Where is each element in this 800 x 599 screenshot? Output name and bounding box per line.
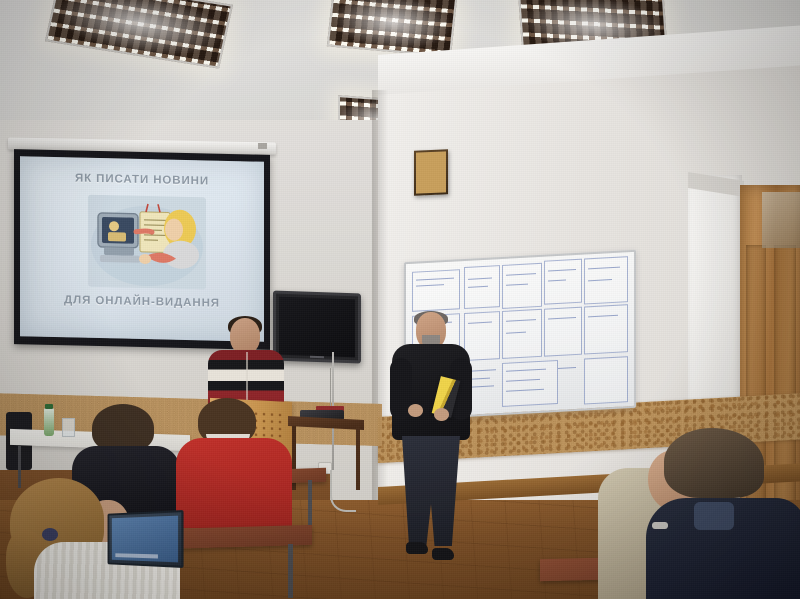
red-sweater — [176, 438, 292, 528]
water-bottle[interactable] — [44, 408, 54, 436]
antenna — [330, 368, 331, 410]
right-hand — [434, 408, 449, 421]
hand — [642, 482, 668, 522]
door-glass-panel — [762, 192, 800, 248]
dark-jeans — [402, 436, 460, 546]
shoe — [432, 548, 454, 560]
orthodox-icon — [414, 149, 448, 195]
wall-corner-shadow — [372, 90, 388, 540]
projection-screen-end-cap — [258, 143, 267, 149]
desk-leg — [288, 544, 293, 598]
hair — [92, 404, 154, 452]
side-table-leg — [356, 426, 360, 490]
laptop[interactable] — [96, 512, 180, 572]
bottle-cap — [45, 404, 53, 409]
speaker-walking — [392, 312, 470, 564]
woman-at-computer-clipart — [88, 195, 206, 290]
head — [230, 318, 260, 354]
hair — [664, 428, 764, 498]
attendee-red-sweater — [176, 398, 292, 526]
hair-band — [42, 528, 58, 541]
collar-shirt — [694, 502, 734, 530]
wristwatch — [652, 522, 668, 529]
classroom-photo: ЯК ПИСАТИ НОВИНИ — [0, 0, 800, 599]
attendee-navy-sweater — [646, 428, 800, 599]
left-hand — [408, 404, 423, 417]
desk-leg — [308, 480, 312, 528]
shoe — [406, 542, 428, 554]
power-cable — [330, 470, 356, 512]
